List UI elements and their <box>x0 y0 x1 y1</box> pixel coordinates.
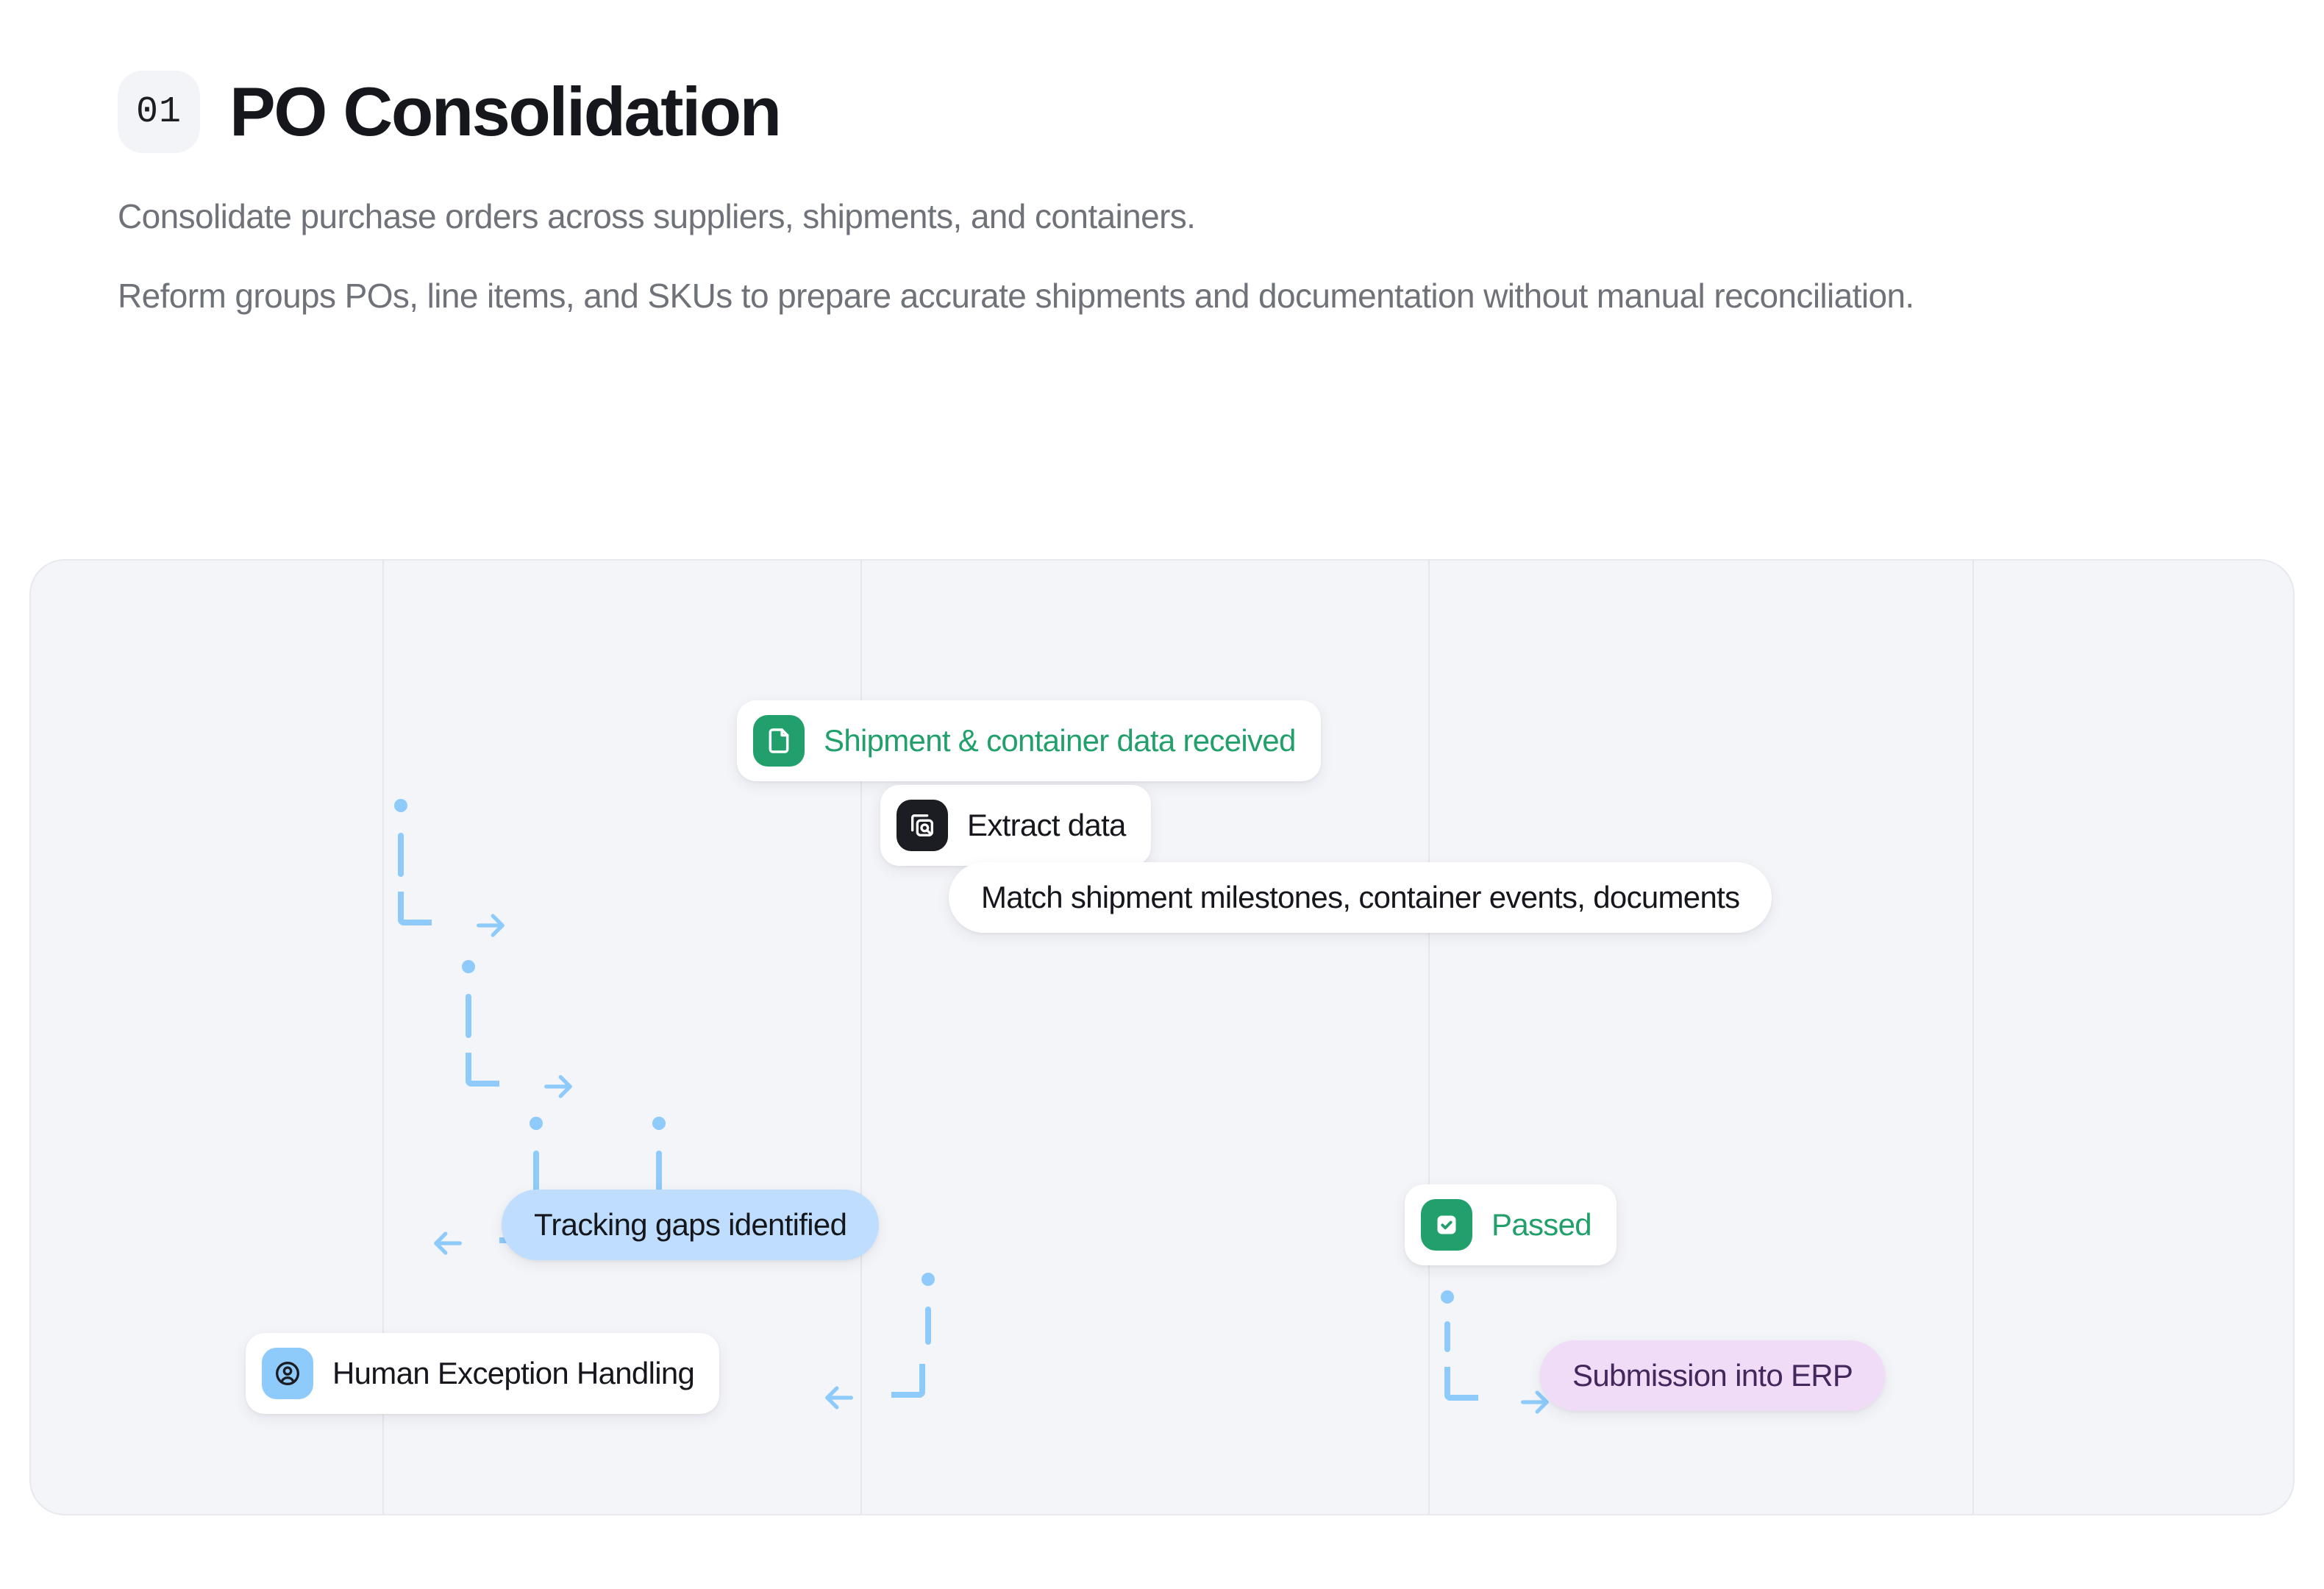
arrow-left-icon <box>819 1379 858 1417</box>
page-subtext: Reform groups POs, line items, and SKUs … <box>118 272 1956 320</box>
connector-elbow <box>398 892 432 925</box>
node-passed[interactable]: Passed <box>1405 1184 1617 1265</box>
connector-dot <box>652 1117 666 1130</box>
node-extract-data[interactable]: Extract data <box>880 785 1151 866</box>
node-label: Tracking gaps identified <box>534 1207 846 1243</box>
document-scan-icon <box>897 800 948 851</box>
workflow-stage: Shipment & container data received Extra… <box>31 561 2293 1514</box>
arrow-right-icon <box>540 1067 578 1106</box>
node-shipment-data-received[interactable]: Shipment & container data received <box>737 700 1321 781</box>
connector-dot <box>530 1117 543 1130</box>
connector-elbow <box>466 1053 499 1087</box>
node-human-exception-handling[interactable]: Human Exception Handling <box>246 1333 719 1414</box>
connector-dot <box>394 799 407 812</box>
node-label: Submission into ERP <box>1572 1358 1853 1393</box>
connector-elbow <box>891 1364 925 1398</box>
connector-dash <box>925 1307 931 1345</box>
node-tracking-gaps-identified[interactable]: Tracking gaps identified <box>502 1190 879 1260</box>
node-label: Match shipment milestones, container eve… <box>981 880 1739 915</box>
connector-dash <box>1444 1321 1450 1352</box>
title-row: 01 PO Consolidation <box>118 71 2324 153</box>
connector-dash <box>656 1151 662 1195</box>
connector-dash <box>533 1151 539 1195</box>
page-header: 01 PO Consolidation Consolidate purchase… <box>0 0 2324 320</box>
node-label: Passed <box>1491 1207 1591 1243</box>
node-label: Shipment & container data received <box>824 723 1296 758</box>
workflow-diagram-card: Shipment & container data received Extra… <box>29 559 2295 1515</box>
connector-dash <box>398 833 404 877</box>
user-circle-icon <box>262 1348 313 1399</box>
connector-elbow <box>1444 1367 1478 1401</box>
node-label: Extract data <box>967 808 1126 843</box>
document-icon <box>753 715 805 767</box>
connector-dot <box>462 960 475 973</box>
page-title: PO Consolidation <box>229 77 780 146</box>
connector-dash <box>466 994 471 1038</box>
arrow-left-icon <box>428 1224 466 1262</box>
node-label: Human Exception Handling <box>332 1356 694 1391</box>
connector-dot <box>1441 1290 1454 1304</box>
node-match-shipment-milestones[interactable]: Match shipment milestones, container eve… <box>949 862 1772 933</box>
node-submission-into-erp[interactable]: Submission into ERP <box>1540 1340 1885 1411</box>
step-number-badge: 01 <box>118 71 200 153</box>
connector-dot <box>922 1273 935 1286</box>
arrow-right-icon <box>472 906 510 945</box>
check-square-icon <box>1421 1199 1472 1251</box>
page-lede: Consolidate purchase orders across suppl… <box>118 196 2324 238</box>
